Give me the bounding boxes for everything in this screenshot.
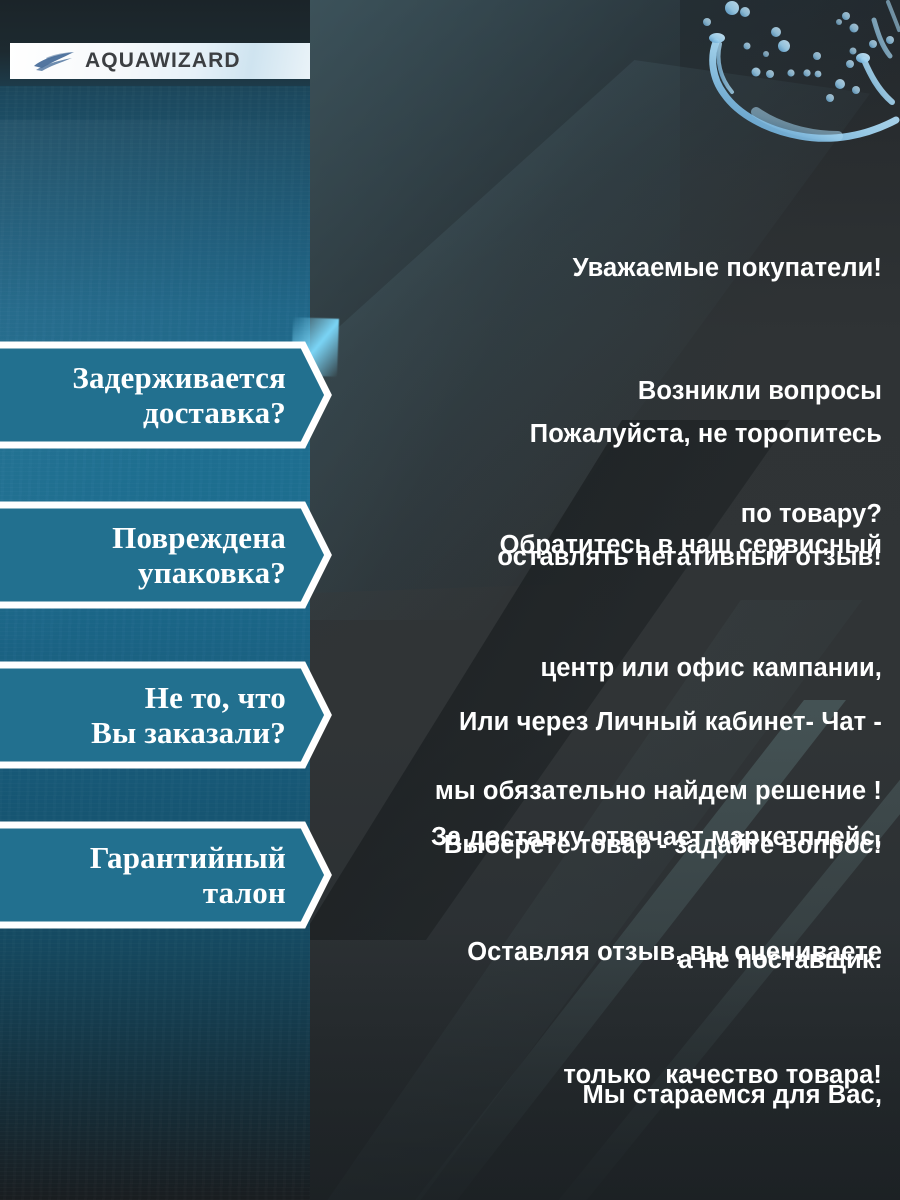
banner-warranty-card[interactable]: Гарантийный талон [0,821,332,929]
banner-text: Задерживается доставка? [0,341,296,449]
message-column: Уважаемые покупатели! Возникли вопросы п… [330,0,900,1200]
brand-logo: AQUAWIZARD [10,43,310,79]
banner-delayed-delivery[interactable]: Задерживается доставка? [0,341,332,449]
paragraph-closing: Мы стараемся для Вас, приятных покупок! [330,993,882,1200]
banner-wrong-item[interactable]: Не то, что Вы заказали? [0,661,332,769]
text-line: Оставляя отзыв, вы оцениваете [330,932,882,973]
banner-line-2: упаковка? [138,555,286,590]
promo-poster: AQUAWIZARD Задерживается доставка? Повре… [0,0,900,1200]
banner-text: Не то, что Вы заказали? [0,661,296,769]
banner-line-1: Повреждена [112,520,286,555]
banner-text: Гарантийный талон [0,821,296,929]
banner-damaged-packaging[interactable]: Повреждена упаковка? [0,501,332,609]
banner-line-2: талон [203,875,286,910]
water-wave-icon [32,50,76,72]
text-line: Мы стараемся для Вас, [330,1075,882,1116]
brand-name: AQUAWIZARD [85,49,241,73]
banner-text: Повреждена упаковка? [0,501,296,609]
banner-line-1: Задерживается [72,360,286,395]
text-line: Обратитесь в наш сервисный [330,525,882,566]
banner-line-2: доставка? [143,395,286,430]
banner-line-1: Не то, что [145,680,286,715]
banner-line-1: Гарантийный [90,840,286,875]
text-line: Уважаемые покупатели! [330,248,882,289]
banner-line-2: Вы заказали? [91,715,286,750]
